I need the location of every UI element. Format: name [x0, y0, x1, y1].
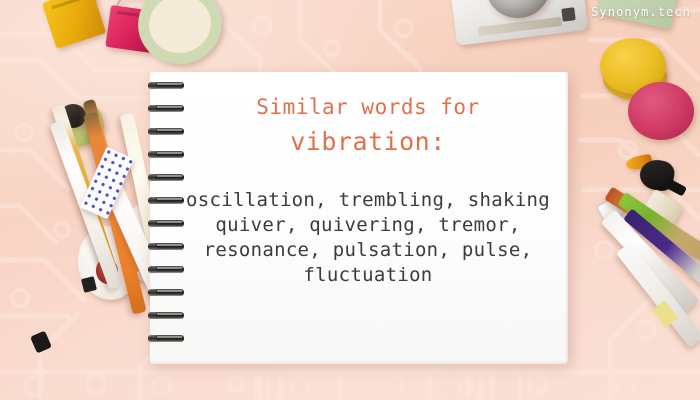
synonym-card-screenshot: Similar words for vibration: oscillation… [0, 0, 700, 400]
heading-line-1: Similar words for [182, 92, 554, 122]
notepad-bottom-edge [150, 361, 568, 364]
camera-shutter-button [561, 7, 575, 21]
synonym-line: oscillation, trembling, shaking [182, 188, 554, 213]
macaron-pink [628, 82, 694, 140]
site-watermark: Synonym.tech [591, 5, 691, 19]
synonym-line: resonance, pulsation, pulse, [182, 238, 554, 263]
synonym-line: quiver, quivering, tremor, [182, 213, 554, 238]
headword-title: vibration: [182, 124, 554, 160]
notepad-right-edge [565, 72, 568, 364]
synonym-card-content: Similar words for vibration: oscillation… [182, 92, 554, 288]
synonym-list: oscillation, trembling, shaking quiver, … [182, 188, 554, 288]
synonym-line: fluctuation [182, 263, 554, 288]
